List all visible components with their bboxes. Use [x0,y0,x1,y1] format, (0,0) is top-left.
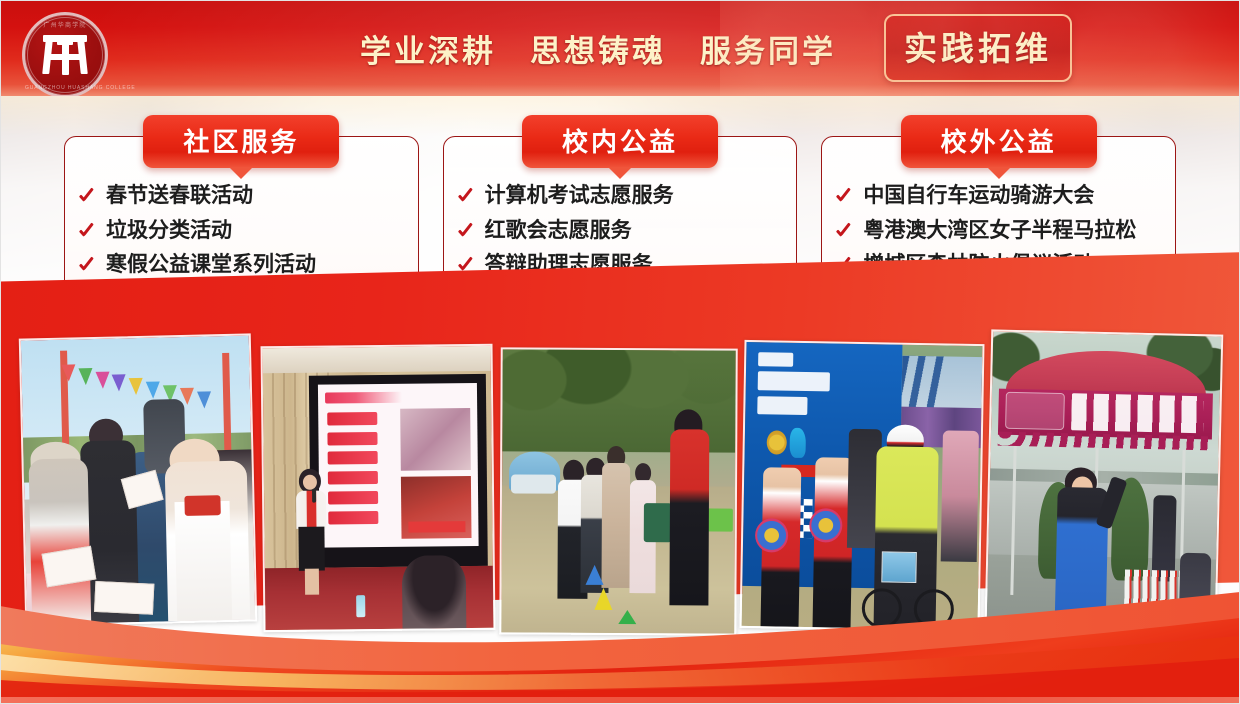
list-item: 计算机考试志愿服务 [458,183,783,209]
slogan-2: 思想铸魂 [530,26,666,71]
check-icon [79,187,96,204]
check-icon [458,222,475,239]
header-banner: 广州华商学院 GUANGZHOU HUASHANG COLLEGE 学业深耕 思… [0,0,1240,96]
list-item-label: 垃圾分类活动 [106,218,232,244]
check-icon [836,187,853,204]
sponsor-logo-label [1005,392,1065,431]
list-item-label: 春节送春联活动 [106,183,253,209]
photo-strip [0,300,1240,630]
list-item-label: 红歌会志愿服务 [485,218,632,244]
photo-community-service-booth [19,333,257,626]
list-item-label: 粤港澳大湾区女子半程马拉松 [863,218,1136,244]
bicycle [860,543,965,630]
card-badge-on-campus-charity: 校内公益 [522,115,718,168]
banner-year-text [759,352,794,367]
slogan-3: 服务同学 [700,26,836,71]
poster-canvas: 广州华商学院 GUANGZHOU HUASHANG COLLEGE 学业深耕 思… [0,0,1240,704]
list-item: 粤港澳大湾区女子半程马拉松 [836,218,1161,244]
list-item-label: 计算机考试志愿服务 [485,183,674,209]
photo-cycling-event [740,340,985,632]
school-seal-logo: 广州华商学院 GUANGZHOU HUASHANG COLLEGE [22,12,108,96]
seal-glyph-icon [41,33,89,77]
photo-campus-presentation [261,344,496,632]
bottom-edge-strip [0,697,1240,704]
check-icon [79,256,96,273]
water-station-title-text [1071,393,1204,433]
seal-caption-bottom: GUANGZHOU HUASHANG COLLEGE [25,85,105,91]
list-item: 垃圾分类活动 [79,218,404,244]
banner-line1-text [758,371,830,391]
card-list-community-service: 春节送春联活动 垃圾分类活动 寒假公益课堂系列活动 [79,183,404,278]
volunteer-figure [669,430,710,606]
list-item: 春节送春联活动 [79,183,404,209]
banner-line2-text [758,396,808,415]
check-icon [79,222,96,239]
event-mascot-icon [790,428,806,458]
list-item: 中国自行车运动骑游大会 [836,183,1161,209]
list-item-label: 中国自行车运动骑游大会 [863,183,1094,209]
photo-outdoor-children-activity [499,347,737,635]
slogan-1: 学业深耕 [360,26,496,71]
header-slogan-group: 学业深耕 思想铸魂 服务同学 实践拓维 [360,0,1072,96]
slogan-highlight-practice: 实践拓维 [884,14,1072,82]
card-badge-community-service: 社区服务 [143,115,339,168]
check-icon [836,222,853,239]
seal-caption-top: 广州华商学院 [25,20,105,29]
event-emblem-icon [766,430,787,455]
card-badge-off-campus-charity: 校外公益 [901,115,1097,168]
list-item: 红歌会志愿服务 [458,218,783,244]
photo-race-water-station [985,329,1224,624]
check-icon [458,187,475,204]
